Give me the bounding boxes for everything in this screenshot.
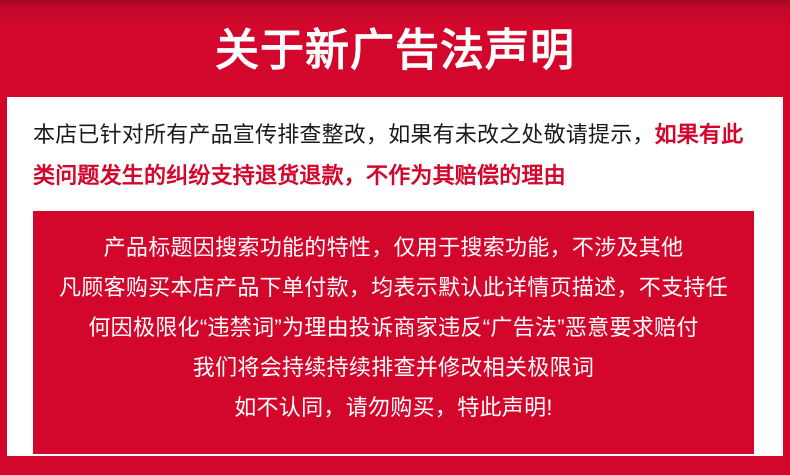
statement-line-5: 如不认同，请勿购买，特此声明! xyxy=(33,388,754,428)
statement-red-block: 产品标题因搜索功能的特性，仅用于搜索功能，不涉及其他 凡顾客购买本店产品下单付款… xyxy=(33,211,754,454)
banner-header: 关于新广告法声明 xyxy=(0,0,790,97)
banner-bottom-bar xyxy=(0,456,790,475)
banner-body-panel: 本店已针对所有产品宣传排查整改，如果有未改之处敬请提示，如果有此类问题发生的纠纷… xyxy=(0,97,790,456)
statement-line-1: 产品标题因搜索功能的特性，仅用于搜索功能，不涉及其他 xyxy=(33,228,754,268)
statement-line-2: 凡顾客购买本店产品下单付款，均表示默认此详情页描述，不支持任 xyxy=(33,268,754,308)
notice-paragraph: 本店已针对所有产品宣传排查整改，如果有未改之处敬请提示，如果有此类问题发生的纠纷… xyxy=(33,114,763,196)
statement-line-3: 何因极限化“违禁词”为理由投诉商家违反“广告法”恶意要求赔付 xyxy=(33,308,754,348)
statement-line-4: 我们将会持续持续排查并修改相关极限词 xyxy=(33,348,754,388)
advertising-law-statement-banner: 关于新广告法声明 本店已针对所有产品宣传排查整改，如果有未改之处敬请提示，如果有… xyxy=(0,0,790,475)
page-title: 关于新广告法声明 xyxy=(215,29,575,73)
notice-line-black: 本店已针对所有产品宣传排查整改，如果有未改之处敬请提示， xyxy=(33,122,655,147)
